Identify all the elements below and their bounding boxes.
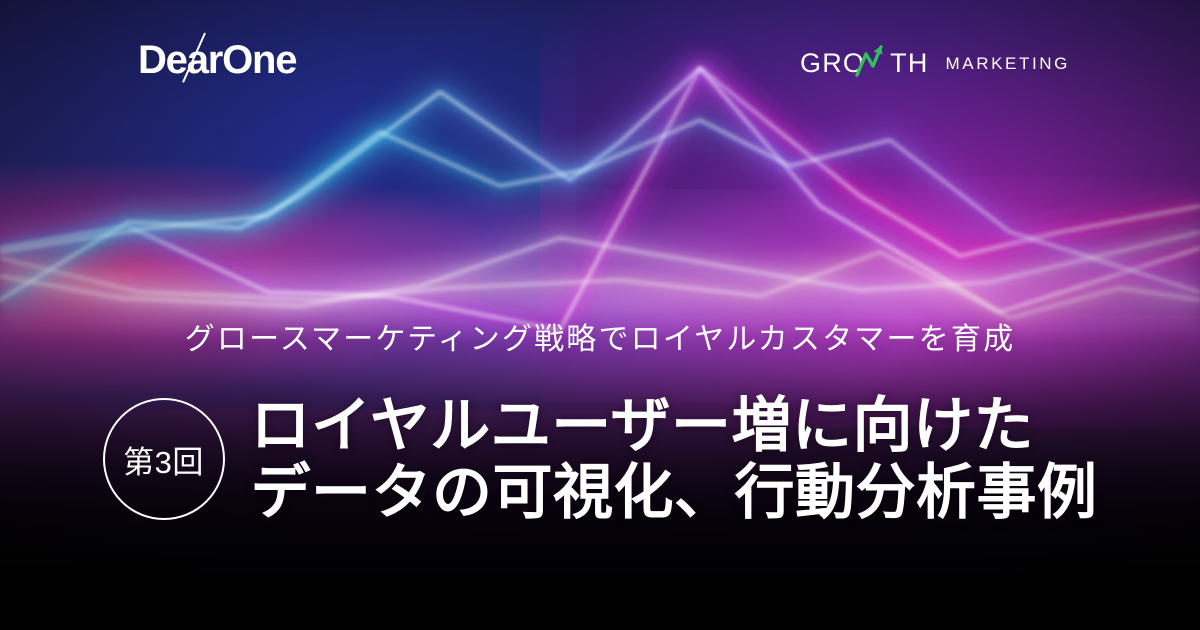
marketing-wordmark: MARKETING (946, 55, 1070, 72)
growth-word-part-2: TH (890, 48, 928, 78)
banner-title-line-2: データの可視化、行動分析事例 (251, 459, 1098, 526)
banner-title-row: 第3回 ロイヤルユーザー増に向けた データの可視化、行動分析事例 (0, 392, 1200, 526)
banner-subtitle: グロースマーケティング戦略でロイヤルカスタマーを育成 (0, 314, 1200, 358)
dearone-logo[interactable]: DearOne (138, 40, 296, 80)
growth-wordmark: GROTH (800, 50, 929, 77)
hero-banner: DearOne GROTH MARKETING グロースマーケティング戦略でロイ… (0, 0, 1200, 630)
dearone-logo-text: DearOne (138, 38, 296, 82)
banner-title-line-1: ロイヤルユーザー増に向けた (251, 392, 1098, 459)
episode-badge: 第3回 (103, 398, 225, 520)
green-up-arrow-icon (855, 42, 885, 78)
banner-title: ロイヤルユーザー増に向けた データの可視化、行動分析事例 (251, 392, 1098, 526)
growth-marketing-logo[interactable]: GROTH MARKETING (800, 50, 1070, 77)
